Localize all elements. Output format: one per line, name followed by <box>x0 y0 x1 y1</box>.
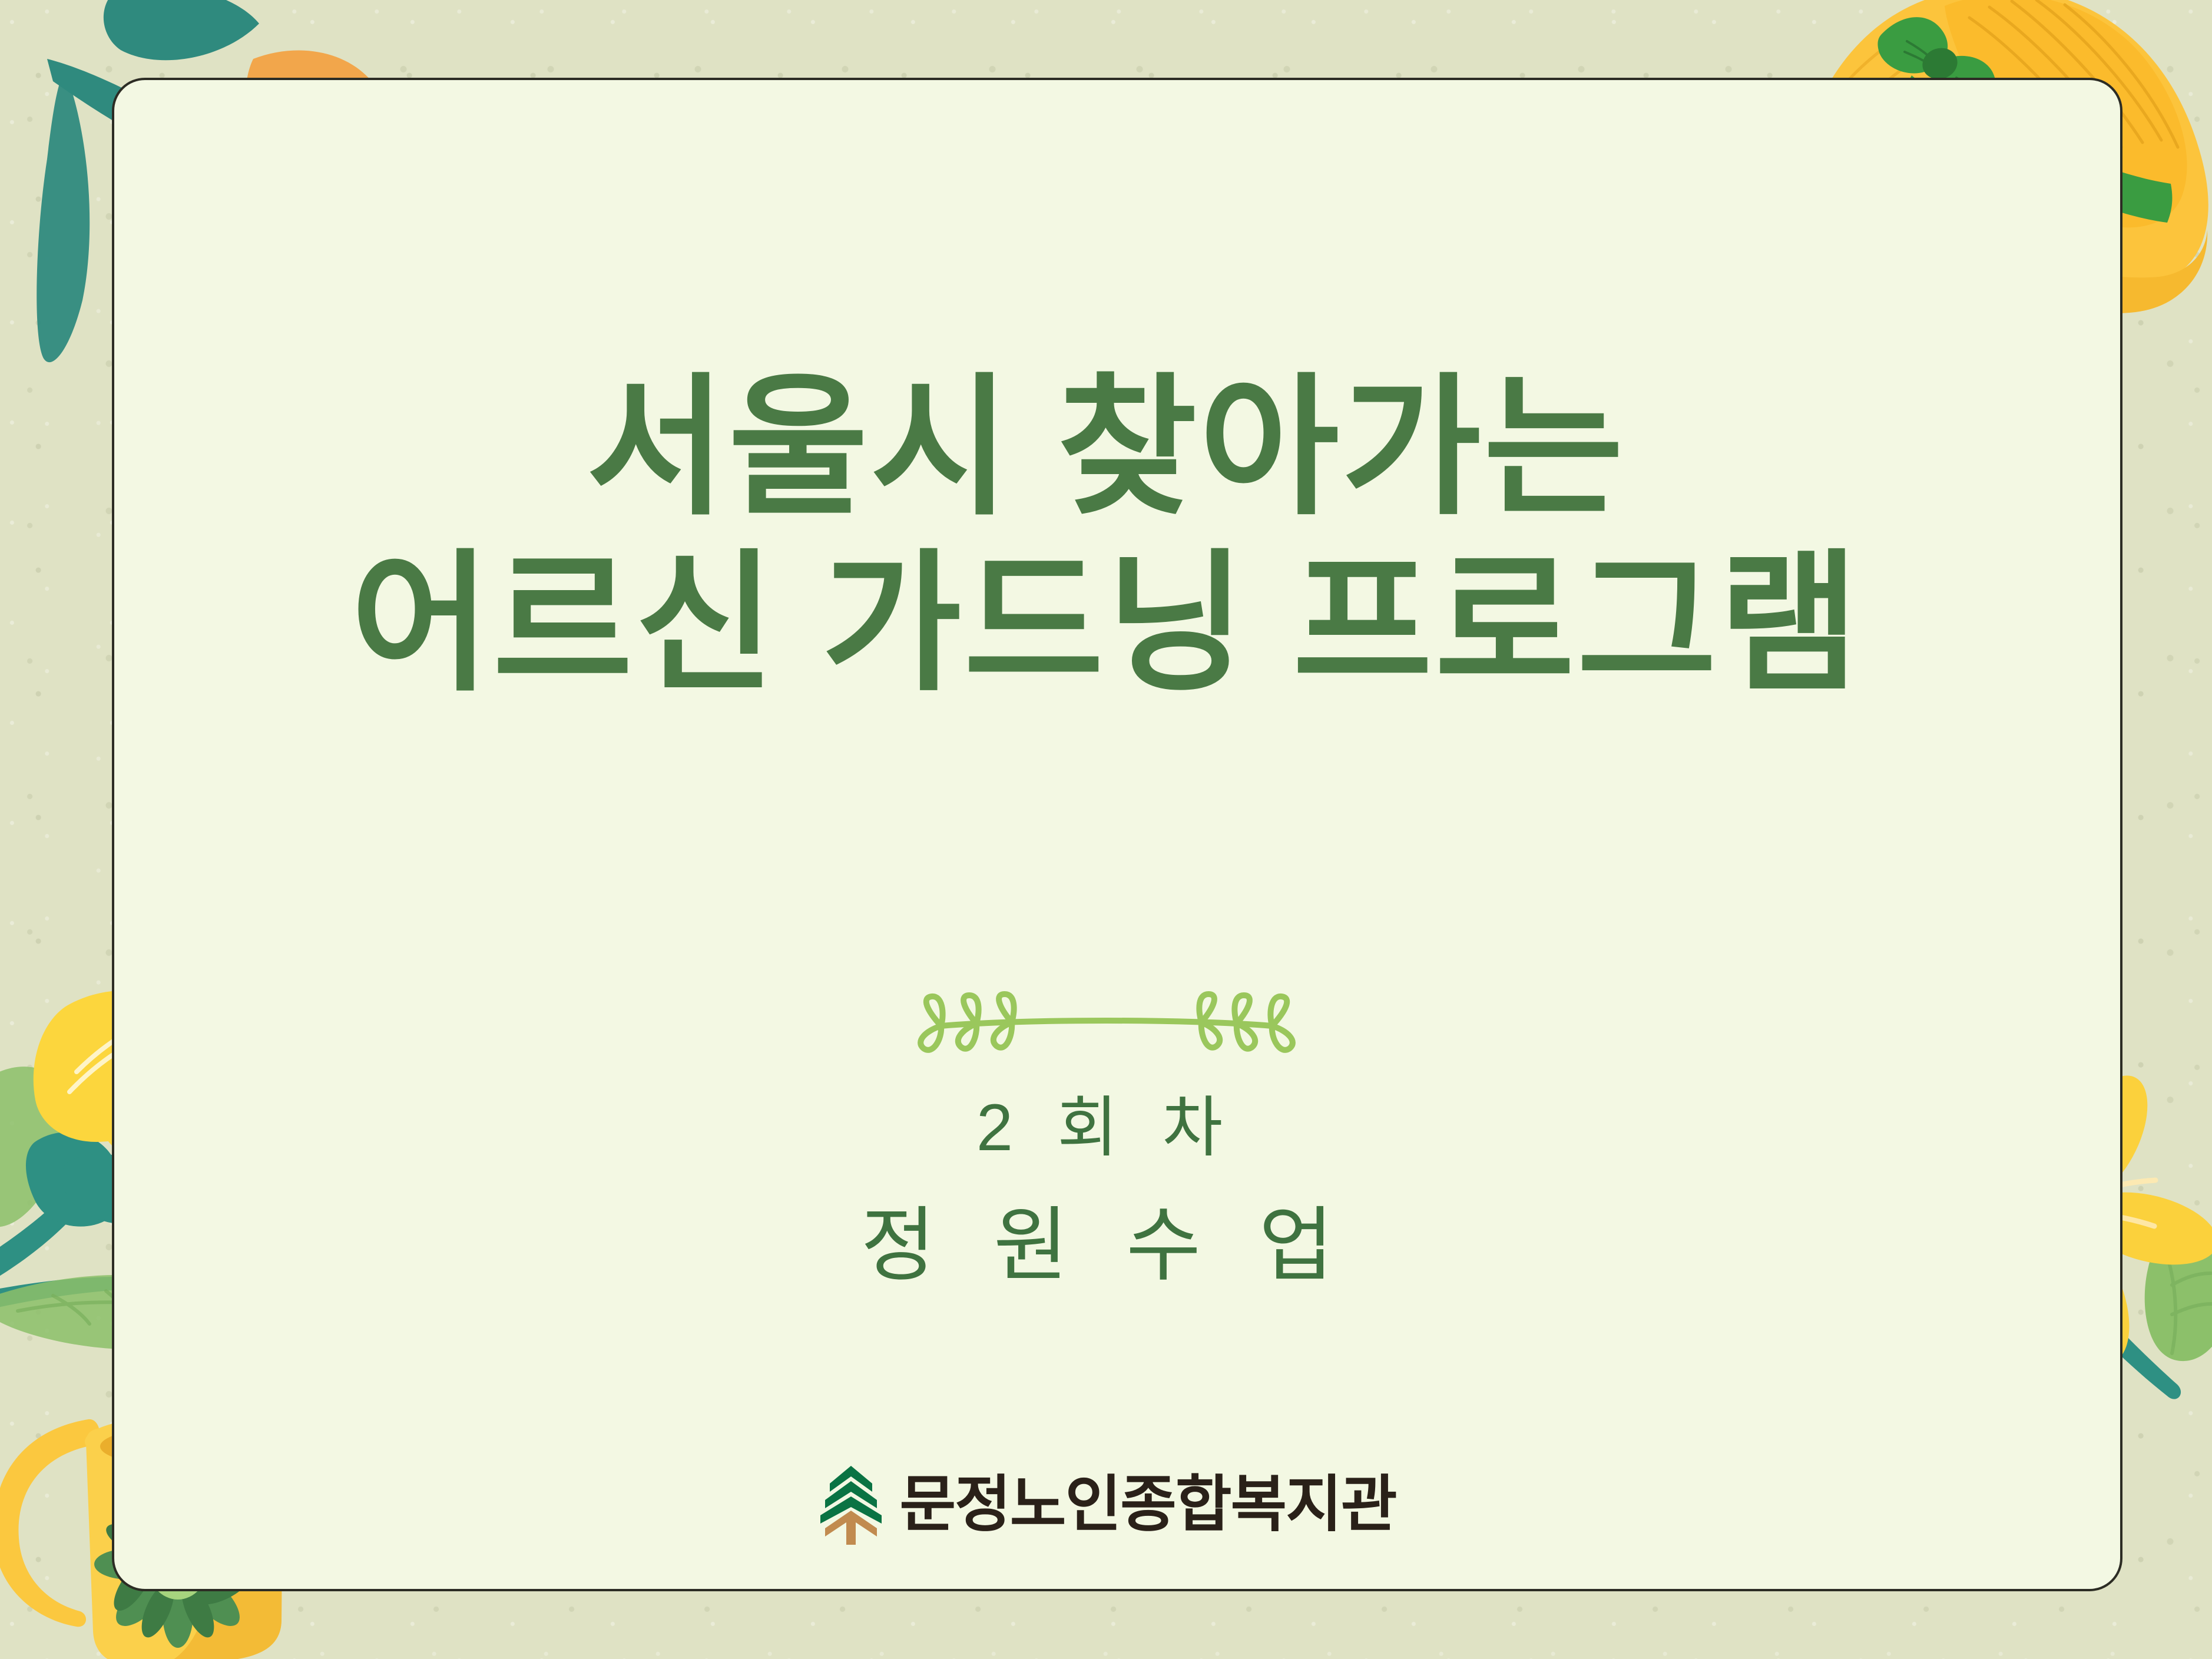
poster-subtitle: 2 회 차 정 원 수 업 <box>0 1087 2212 1297</box>
title-line-2: 어르신 가드닝 프로그램 <box>0 535 2212 711</box>
poster-card <box>112 78 2122 1591</box>
decorative-divider <box>0 989 2212 1060</box>
organization-name: 문정노인종합복지관 <box>899 1474 1396 1535</box>
leafy-vine-divider-icon <box>882 989 1330 1060</box>
poster-canvas: 서울시 찾아가는 어르신 가드닝 프로그램 <box>0 0 2212 1659</box>
organization-logo: 문정노인종합복지관 <box>0 1463 2212 1546</box>
session-label: 2 회 차 <box>0 1087 2212 1169</box>
title-line-1: 서울시 찾아가는 <box>0 359 2212 535</box>
poster-title: 서울시 찾아가는 어르신 가드닝 프로그램 <box>0 359 2212 712</box>
topic-label: 정 원 수 업 <box>0 1195 2212 1297</box>
pine-tree-icon <box>816 1463 886 1546</box>
